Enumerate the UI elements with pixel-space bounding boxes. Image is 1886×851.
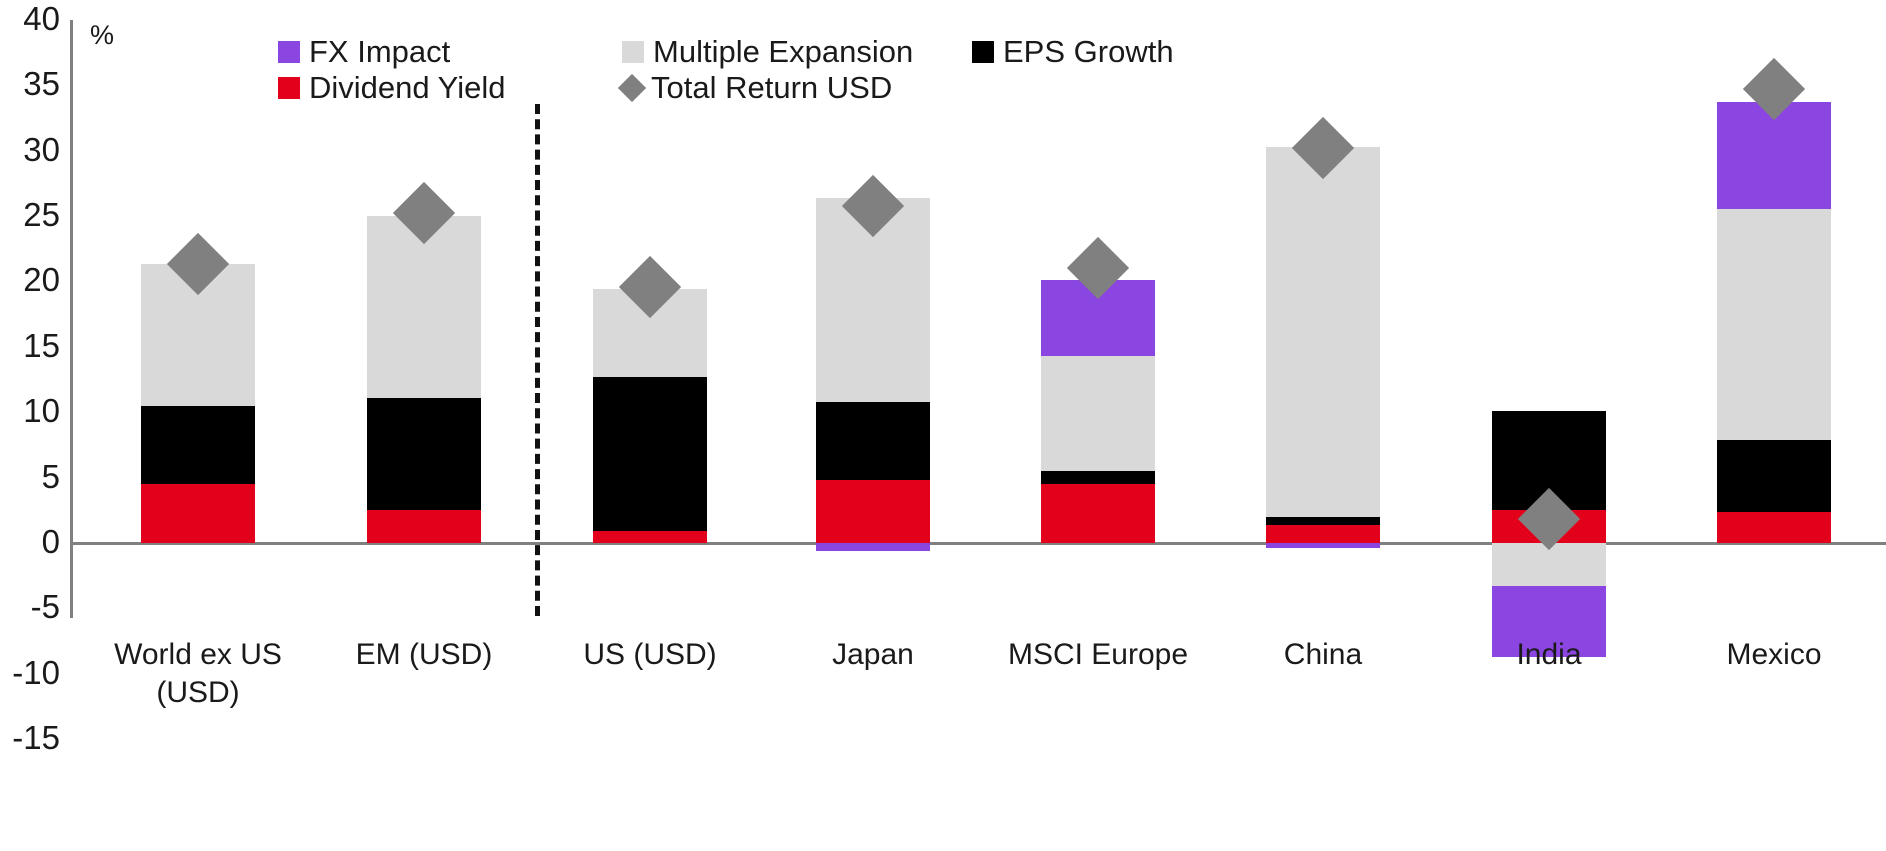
legend-color-swatch-icon [972, 41, 994, 63]
bar-segment [367, 398, 481, 510]
legend-diamond-marker-icon [618, 73, 646, 101]
bar-segment [141, 406, 255, 484]
y-tick-label: 40 [0, 2, 60, 35]
bar-segment [593, 377, 707, 531]
x-axis-category-label: World ex US (USD) [88, 636, 308, 711]
legend-item-dividend-yield[interactable]: Dividend Yield [278, 72, 505, 103]
bar-segment [1717, 440, 1831, 512]
y-tick-label: 5 [0, 460, 60, 493]
y-tick-label: 10 [0, 394, 60, 427]
y-tick-label: 15 [0, 329, 60, 362]
legend-label: EPS Growth [1003, 36, 1174, 67]
x-axis-category-label: Mexico [1664, 636, 1884, 674]
x-axis-category-label: EM (USD) [314, 636, 534, 674]
legend-label: Multiple Expansion [653, 36, 913, 67]
x-axis-category-label: US (USD) [540, 636, 760, 674]
y-tick-label: -5 [0, 590, 60, 623]
bar-segment [816, 480, 930, 543]
legend-color-swatch-icon [278, 77, 300, 99]
legend-item-eps-growth[interactable]: EPS Growth [972, 36, 1174, 67]
x-axis-category-label: Japan [763, 636, 983, 674]
bar-segment [1266, 543, 1380, 548]
bar-segment [816, 543, 930, 551]
bar-segment [1041, 356, 1155, 471]
legend-item-multiple-expansion[interactable]: Multiple Expansion [622, 36, 913, 67]
y-tick-label: 25 [0, 198, 60, 231]
y-tick-label: -10 [0, 656, 60, 689]
legend-label: Total Return USD [651, 72, 892, 103]
bar-segment [141, 484, 255, 543]
legend-color-swatch-icon [622, 41, 644, 63]
chart-canvas: % 4035302520151050-5-10-15 FX ImpactMult… [0, 0, 1886, 851]
legend-item-total-return-usd[interactable]: Total Return USD [622, 72, 892, 103]
legend-label: FX Impact [309, 36, 450, 67]
y-tick-label: 0 [0, 525, 60, 558]
bar-segment [1266, 517, 1380, 525]
x-axis-category-label: MSCI Europe [988, 636, 1208, 674]
y-axis-unit-label: % [90, 22, 114, 49]
bar-segment [816, 402, 930, 480]
x-axis-category-label: China [1213, 636, 1433, 674]
legend-color-swatch-icon [278, 41, 300, 63]
legend-label: Dividend Yield [309, 72, 505, 103]
zero-baseline [70, 542, 1886, 545]
y-tick-label: 35 [0, 67, 60, 100]
y-axis-line [70, 20, 73, 618]
y-tick-label: 20 [0, 263, 60, 296]
bar-segment [367, 510, 481, 543]
legend-item-fx-impact[interactable]: FX Impact [278, 36, 450, 67]
bar-segment [1717, 209, 1831, 439]
bar-segment [1041, 471, 1155, 484]
y-tick-label: -15 [0, 721, 60, 754]
bar-segment [1041, 484, 1155, 543]
bar-segment [1717, 512, 1831, 543]
bar-segment [593, 531, 707, 543]
bar-segment [1266, 147, 1380, 517]
y-tick-label: 30 [0, 133, 60, 166]
x-axis-category-label: India [1439, 636, 1659, 674]
group-divider [535, 104, 540, 616]
bar-segment [1266, 525, 1380, 543]
